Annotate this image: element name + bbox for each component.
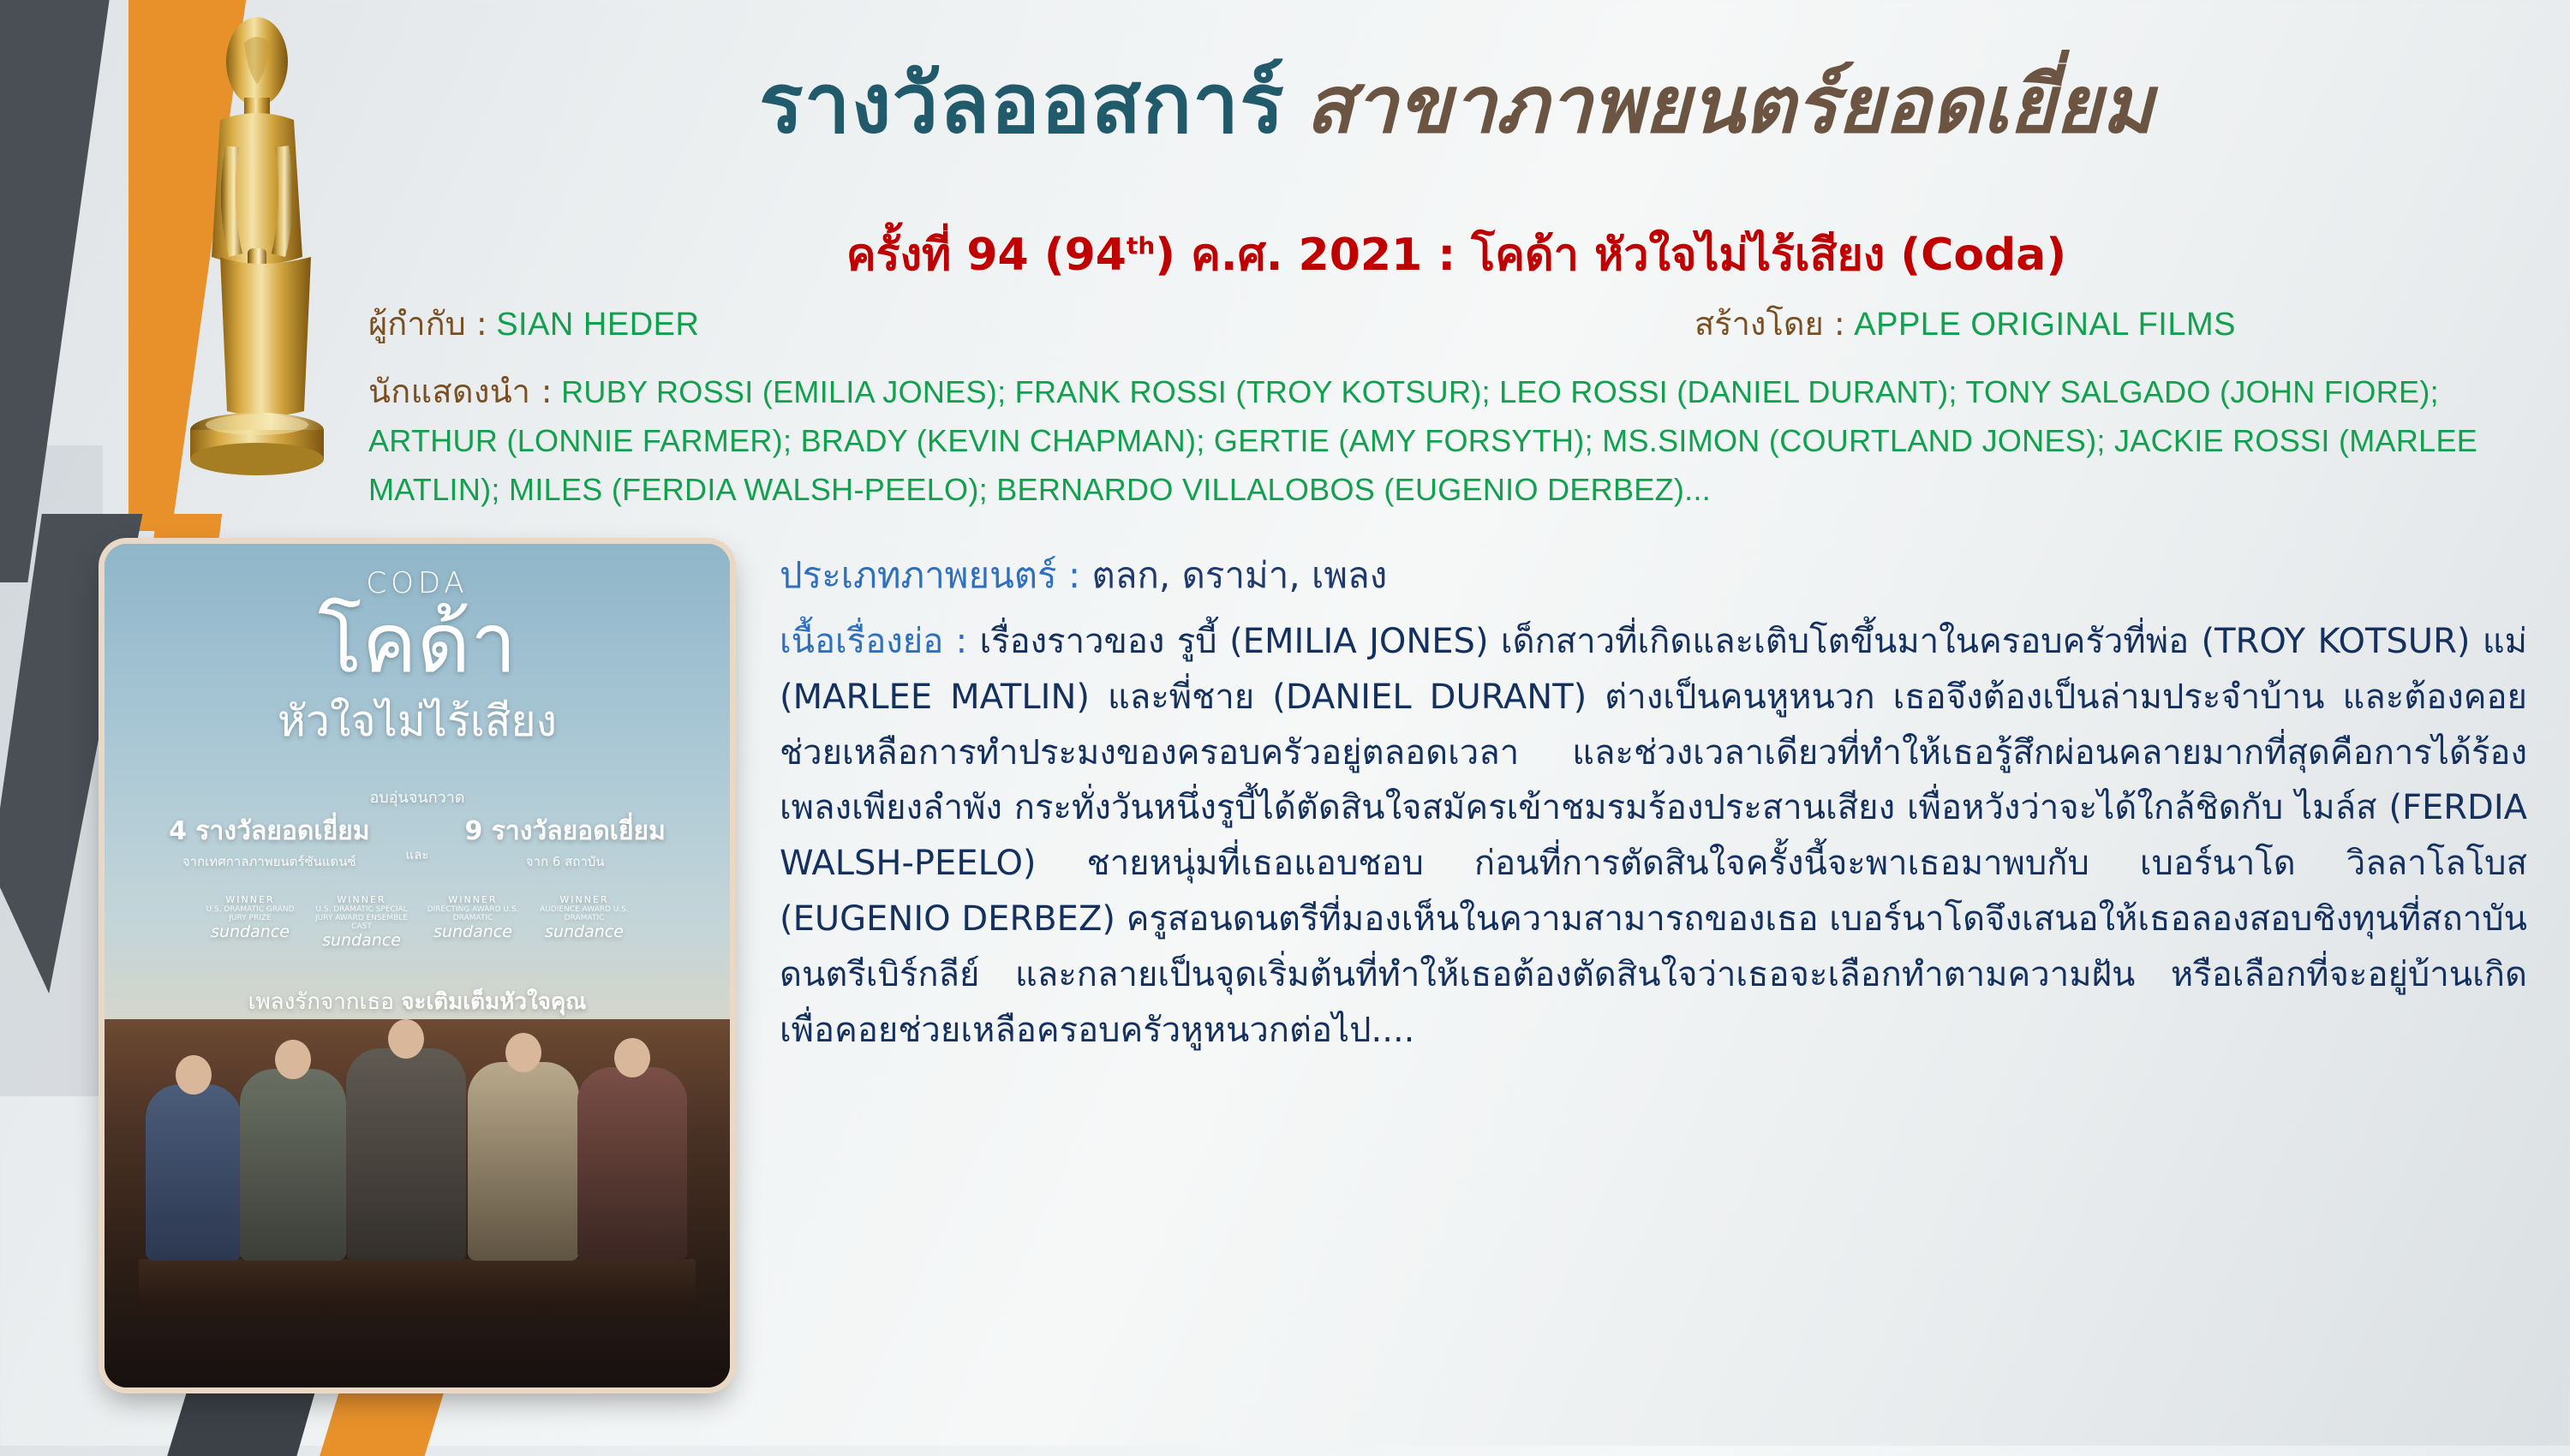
edition-ordinal-suffix: th [1127,232,1155,260]
laurel-winner-text: WINNER [426,894,520,905]
page-title: รางวัลออสการ์สาขาภาพยนตร์ยอดเยี่ยม [377,39,2536,169]
producer-value: APPLE ORIGINAL FILMS [1854,307,2236,343]
synopsis-block: ประเภทภาพยนตร์ : ตลก, ดราม่า, เพลง เนื้อ… [780,548,2527,1058]
genre-row: ประเภทภาพยนตร์ : ตลก, ดราม่า, เพลง [780,548,2527,602]
laurel-note-text: U.S. DRAMATIC GRAND JURY PRIZE [203,905,297,922]
poster-text-block: CODA โคด้า หัวใจไม่ไร้เสียง อบอุ่นจนกวาด… [105,566,730,1019]
laurel-winner-text: WINNER [537,894,631,905]
edition-suffix: ) ค.ศ. 2021 : โคด้า หัวใจไม่ไร้เสียง (Co… [1155,230,2066,281]
plot-paragraph: เนื้อเรื่องย่อ : เรื่องราวของ รูบี้ (EMI… [780,614,2527,1058]
edition-prefix: ครั้งที่ 94 (94 [846,230,1127,281]
laurel-badge: WINNER U.S. DRAMATIC SPECIAL JURY AWARD … [314,894,409,950]
movie-poster: CODA โคด้า หัวใจไม่ไร้เสียง อบอุ่นจนกวาด… [105,544,730,1387]
genre-label: ประเภทภาพยนตร์ : [780,554,1080,596]
cast-label: นักแสดงนำ : [368,373,553,410]
laurel-note-text: DIRECTING AWARD U.S. DRAMATIC [426,905,520,922]
background-gray-panel [0,445,103,1096]
poster-award-1-title: 4 รางวัลยอดเยี่ยม [169,811,369,851]
genre-value: ตลก, ดราม่า, เพลง [1091,554,1387,596]
laurel-festival-text: sundance [203,922,297,941]
poster-tagline: เพลงรักจากเธอ จะเติมเต็มหัวใจคุณ [105,984,730,1019]
poster-figure [468,1062,579,1261]
cast-row: นักแสดงนำ : RUBY ROSSI (EMILIA JONES); F… [368,366,2510,515]
cast-value: RUBY ROSSI (EMILIA JONES); FRANK ROSSI (… [368,374,2477,507]
director-row: ผู้กำกับ : SIAN HEDER [368,300,699,350]
poster-award-2-title: 9 รางวัลยอดเยี่ยม [464,811,665,851]
laurel-badge: WINNER DIRECTING AWARD U.S. DRAMATIC sun… [426,894,520,950]
laurel-badge: WINNER AUDIENCE AWARD U.S. DRAMATIC sund… [537,894,631,950]
poster-truck-photo [105,1019,730,1387]
title-subtitle-text: สาขาภาพยนตร์ยอดเยี่ยม [1306,59,2154,151]
poster-award-1-note: จากเทศกาลภาพยนตร์ซันแดนซ์ [169,851,369,872]
poster-awards-intro: อบอุ่นจนกวาด [105,785,730,809]
laurel-note-text: AUDIENCE AWARD U.S. DRAMATIC [537,905,631,922]
producer-row: สร้างโดย : APPLE ORIGINAL FILMS [1694,300,2236,350]
laurel-festival-text: sundance [537,922,631,941]
laurel-festival-text: sundance [426,922,520,941]
producer-label: สร้างโดย : [1694,305,1845,343]
poster-subtitle-th: หัวใจไม่ไร้เสียง [105,688,730,755]
laurel-festival-text: sundance [314,931,409,950]
oscar-statuette-icon [158,9,356,548]
director-value: SIAN HEDER [496,307,699,343]
poster-tagline-bold: จะเติมเต็มหัวใจคุณ [401,989,586,1015]
poster-and-word: และ [406,844,429,872]
credits-block: ผู้กำกับ : SIAN HEDER สร้างโดย : APPLE O… [368,300,2510,515]
poster-title-th: โคด้า [105,602,730,686]
plot-text: เรื่องราวของ รูบี้ (EMILIA JONES) เด็กสา… [780,622,2527,1050]
poster-award-2-note: จาก 6 สถาบัน [464,851,665,872]
poster-figure [577,1067,687,1261]
edition-line: ครั้งที่ 94 (94th) ค.ศ. 2021 : โคด้า หัว… [377,218,2536,289]
poster-awards-row: 4 รางวัลยอดเยี่ยม จากเทศกาลภาพยนตร์ซันแด… [105,811,730,872]
laurel-note-text: U.S. DRAMATIC SPECIAL JURY AWARD ENSEMBL… [314,905,409,931]
poster-award-1: 4 รางวัลยอดเยี่ยม จากเทศกาลภาพยนตร์ซันแด… [169,811,369,872]
laurel-badge: WINNER U.S. DRAMATIC GRAND JURY PRIZE su… [203,894,297,950]
laurel-winner-text: WINNER [203,894,297,905]
poster-figure [240,1069,346,1261]
poster-award-2: 9 รางวัลยอดเยี่ยม จาก 6 สถาบัน [464,811,665,872]
plot-label: เนื้อเรื่องย่อ : [780,622,967,661]
poster-figure [146,1084,242,1261]
credits-top-row: ผู้กำกับ : SIAN HEDER สร้างโดย : APPLE O… [368,300,2510,350]
laurel-winner-text: WINNER [314,894,409,905]
poster-figure [346,1048,466,1261]
title-main-text: รางวัลออสการ์ [759,56,1285,152]
truck-tailgate [139,1259,696,1309]
director-label: ผู้กำกับ : [368,305,487,343]
poster-laurels-row: WINNER U.S. DRAMATIC GRAND JURY PRIZE su… [105,894,730,950]
poster-tagline-light: เพลงรักจากเธอ [248,989,394,1015]
